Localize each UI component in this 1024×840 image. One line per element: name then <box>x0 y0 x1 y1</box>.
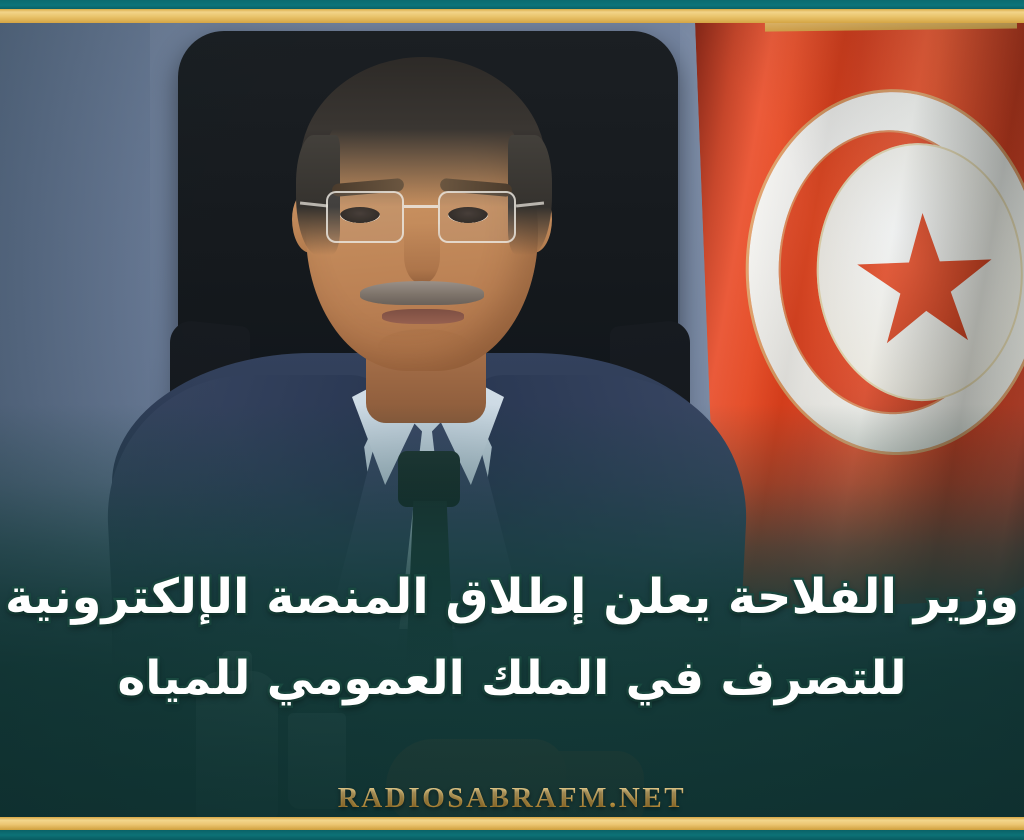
frame-band-teal-bottom <box>0 830 1024 840</box>
site-watermark: RADIOSABRAFM.NET <box>0 782 1024 815</box>
headline-line-1: وزير الفلاحة يعلن إطلاق المنصة الإلكترون… <box>0 556 1024 638</box>
headline: وزير الفلاحة يعلن إطلاق المنصة الإلكترون… <box>0 556 1024 720</box>
news-graphic-card: RÉPUBLIQUE TUNISIENNE <box>0 0 1024 840</box>
site-watermark-label: RADIOSABRAFM.NET <box>338 782 687 814</box>
frame-band-gold-top <box>0 9 1024 23</box>
frame-band-teal-top <box>0 0 1024 9</box>
headline-line-2: للتصرف في الملك العمومي للمياه <box>0 638 1024 720</box>
frame-band-gold-bottom <box>0 817 1024 830</box>
